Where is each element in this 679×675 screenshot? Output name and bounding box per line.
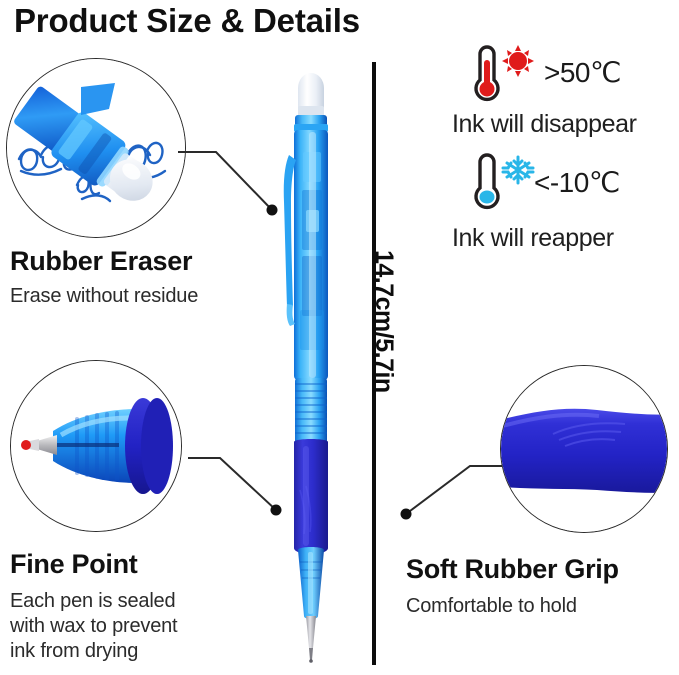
page-title: Product Size & Details	[14, 2, 360, 40]
sun-icon	[509, 52, 527, 70]
pen-tip-closeup-image	[11, 361, 181, 531]
product-pen-image	[276, 60, 354, 670]
callout-title-fine-point: Fine Point	[10, 549, 138, 580]
pen-eraser-closeup-image	[7, 59, 185, 237]
leader-line-soft-rubber-grip	[398, 452, 508, 532]
temperature-row-cold: <-10℃	[458, 152, 678, 212]
callout-subtitle-line: Erase without residue	[10, 284, 198, 309]
leader-line-rubber-eraser	[176, 140, 286, 230]
zoom-circle-rubber-eraser	[6, 58, 186, 238]
callout-subtitle-soft-rubber-grip: Comfortable to hold	[406, 594, 577, 619]
callout-subtitle-line: Each pen is sealed	[10, 589, 177, 614]
temperature-caption-hot: Ink will disappear	[452, 110, 637, 139]
temperature-caption-cold: Ink will reapper	[452, 224, 614, 253]
callout-subtitle-line: Comfortable to hold	[406, 594, 577, 619]
pen-grip-closeup-image	[501, 366, 667, 532]
temperature-value-cold: <-10℃	[534, 166, 620, 199]
callout-subtitle-line: with wax to prevent	[10, 614, 177, 639]
temperature-value-hot: >50℃	[544, 56, 621, 89]
zoom-circle-fine-point	[10, 360, 182, 532]
callout-subtitle-line: ink from drying	[10, 639, 177, 664]
callout-subtitle-fine-point: Each pen is sealed with wax to prevent i…	[10, 589, 177, 664]
thermometer-hot-icon	[458, 44, 548, 106]
temperature-row-hot: >50℃	[458, 44, 678, 104]
zoom-circle-soft-rubber-grip	[500, 365, 668, 533]
callout-title-rubber-eraser: Rubber Eraser	[10, 246, 192, 277]
infographic-page: Product Size & Details	[0, 0, 679, 675]
callout-title-soft-rubber-grip: Soft Rubber Grip	[406, 554, 619, 585]
snowflake-icon	[503, 157, 533, 183]
dimension-label: 14.7cm/5.7in	[369, 250, 398, 470]
callout-subtitle-rubber-eraser: Erase without residue	[10, 284, 198, 309]
